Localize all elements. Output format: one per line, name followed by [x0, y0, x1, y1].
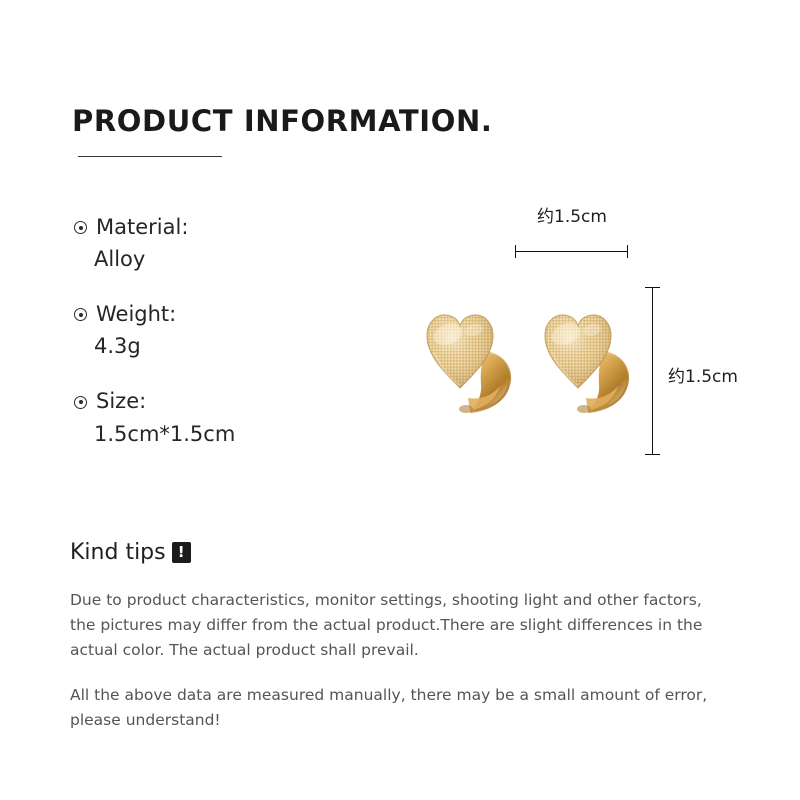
specification-list: Material: Alloy Weight: 4.3g Size: 1.5cm…: [74, 216, 374, 478]
product-figure: 约1.5cm 约1.5cm: [400, 190, 760, 480]
spec-item-material: Material: Alloy: [74, 216, 374, 271]
spec-value-size: 1.5cm*1.5cm: [94, 422, 374, 446]
width-dimension-label: 约1.5cm: [537, 202, 607, 227]
spec-header: Material:: [74, 216, 374, 239]
spec-item-size: Size: 1.5cm*1.5cm: [74, 390, 374, 445]
circled-dot-icon: [74, 308, 87, 321]
circled-dot-icon: [74, 396, 87, 409]
spec-header: Size:: [74, 390, 374, 413]
spec-label-size: Size:: [96, 390, 146, 413]
exclamation-badge-icon: !: [172, 542, 191, 563]
kind-tips-title: Kind tips: [70, 540, 166, 565]
title-underline-rule: [78, 156, 222, 157]
product-image-gold-heart-earrings: [408, 298, 638, 428]
disclaimer-paragraph-color: Due to product characteristics, monitor …: [70, 588, 708, 663]
spec-item-weight: Weight: 4.3g: [74, 303, 374, 358]
circled-dot-icon: [74, 221, 87, 234]
width-dimension-line: [515, 251, 628, 252]
disclaimer-paragraph-measurement: All the above data are measured manually…: [70, 683, 708, 733]
page-title: PRODUCT INFORMATION.: [72, 104, 492, 138]
spec-header: Weight:: [74, 303, 374, 326]
height-dimension-line: [652, 287, 653, 455]
kind-tips-header: Kind tips !: [70, 540, 191, 565]
spec-label-weight: Weight:: [96, 303, 176, 326]
kind-tips-body: Due to product characteristics, monitor …: [70, 588, 708, 754]
spec-value-material: Alloy: [94, 247, 374, 271]
spec-value-weight: 4.3g: [94, 334, 374, 358]
height-dimension-label: 约1.5cm: [668, 362, 738, 387]
spec-label-material: Material:: [96, 216, 188, 239]
